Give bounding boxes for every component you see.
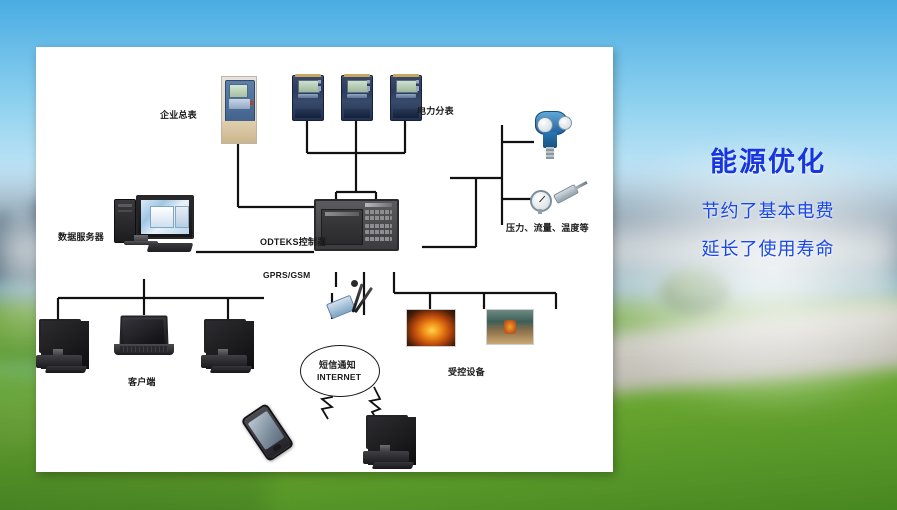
client-desktop-right[interactable] [204, 319, 256, 371]
pressure-transmitter[interactable] [532, 109, 568, 163]
plant-photo[interactable] [486, 309, 534, 345]
gprs-gsm-label: GPRS/GSM [263, 270, 310, 281]
internet-cloud-label-line2: INTERNET [317, 372, 361, 383]
client-label: 客户端 [128, 377, 156, 388]
furnace-photo[interactable] [406, 309, 456, 347]
power-submeter-1[interactable] [292, 75, 324, 121]
network-diagram-panel: 短信通知 INTERNET 企业总表 电力分表 压力、流量、温度等 ODTEKS… [36, 47, 613, 472]
controller-label: ODTEKS控制器 [260, 237, 326, 248]
power-submeter-label: 电力分表 [417, 106, 454, 117]
marketing-copy: 能源优化 节约了基本电费 延长了使用寿命 [648, 140, 888, 261]
enterprise-meter-label: 企业总表 [160, 110, 197, 121]
controlled-equipment-label: 受控设备 [448, 367, 485, 378]
client-desktop-left[interactable] [39, 319, 91, 371]
pressure-gauge[interactable] [530, 190, 552, 212]
internet-cloud-label-line1: 短信通知 [319, 360, 356, 371]
odteks-controller[interactable] [314, 199, 399, 251]
diagram-connectors [36, 47, 613, 472]
data-server-label: 数据服务器 [58, 232, 104, 243]
client-laptop[interactable] [120, 315, 180, 359]
power-submeter-2[interactable] [341, 75, 373, 121]
gprs-modem[interactable] [318, 285, 380, 325]
benefit-line-1: 节约了基本电费 [648, 197, 888, 223]
remote-desktop[interactable] [366, 415, 418, 467]
data-server[interactable] [114, 195, 204, 257]
benefit-line-2: 延长了使用寿命 [648, 235, 888, 261]
page-title: 能源优化 [648, 140, 888, 179]
sensors-label: 压力、流量、温度等 [506, 223, 589, 234]
enterprise-meter[interactable] [221, 76, 257, 144]
